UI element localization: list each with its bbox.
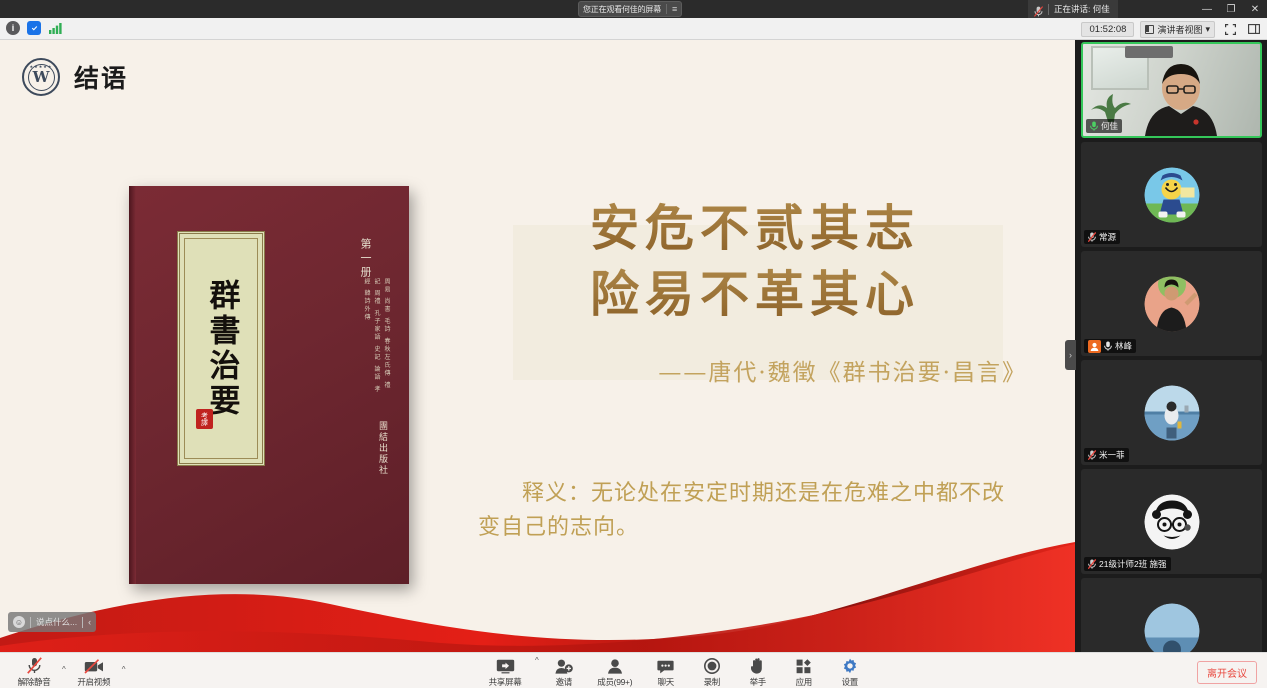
book-subtitle-list: 周易 尚書 毛詩 春秋左氏傳 禮記 周禮 孔子家語 史記 論語 孝經 韓詩外傳 (361, 278, 391, 396)
microphone-on-icon (1104, 341, 1112, 351)
presentation-slide: ★★★★★ W 结语 群書治要 考譯 第一册 周易 尚書 毛詩 春秋左氏傳 禮記… (0, 40, 1075, 652)
participant-name-bar: 21级计师2班 施强 (1084, 557, 1171, 571)
emblem-stars: ★★★★★ (24, 64, 58, 69)
microphone-muted-icon (27, 658, 42, 674)
fullscreen-icon[interactable] (1221, 21, 1239, 37)
participant-name: 21级计师2班 施强 (1099, 558, 1167, 570)
window-controls: — ❐ ✕ (1195, 0, 1267, 18)
control-bar-left: 解除静音 ^ 开启视频 ^ (8, 656, 126, 688)
slide-header: ★★★★★ W 结语 (22, 58, 128, 96)
view-mode-selector[interactable]: 演讲者视图 ▾ (1140, 21, 1215, 38)
participants-button-label: 成员(99+) (597, 676, 632, 688)
start-video-button-label: 开启视频 (77, 676, 110, 688)
control-bar-center: 共享屏幕 ^ 邀请 成员(99+) 聊天 录制 (479, 656, 871, 688)
book-cover-image: 群書治要 考譯 第一册 周易 尚書 毛詩 春秋左氏傳 禮記 周禮 孔子家語 史記… (129, 186, 409, 584)
share-options-chevron-icon[interactable]: ^ (535, 656, 539, 679)
viewing-screen-banner[interactable]: 您正在观看何佳的屏幕 ≡ (578, 1, 682, 17)
panel-collapse-handle[interactable]: › (1065, 340, 1076, 370)
quote-explanation: 释义：无论处在安定时期还是在危难之中都不改变自己的志向。 (478, 477, 1023, 545)
settings-button-label: 设置 (842, 676, 858, 688)
speaker-view-icon (1145, 25, 1154, 34)
viewing-screen-banner-label: 您正在观看何佳的屏幕 (583, 4, 661, 15)
participant-tile[interactable]: 21级计师2班 施强 (1081, 469, 1262, 574)
participant-name-bar: 林峰 (1084, 339, 1136, 353)
window-top-strip: 您正在观看何佳的屏幕 ≡ 正在讲话: 何佳 — ❐ ✕ (0, 0, 1267, 18)
meeting-header-bar: i 01:52:08 演讲者视图 ▾ (0, 18, 1267, 40)
invite-button-label: 邀请 (556, 676, 572, 688)
active-speaker-label: 正在讲话: 何佳 (1054, 3, 1110, 15)
meeting-timer: 01:52:08 (1081, 22, 1134, 37)
view-mode-label: 演讲者视图 (1157, 23, 1202, 36)
book-publisher-label: 團結出版社 (376, 421, 389, 476)
book-volume-label: 第一册 (357, 238, 373, 280)
camera-off-icon (84, 658, 104, 674)
leave-meeting-button[interactable]: 离开会议 (1197, 661, 1257, 684)
smiley-icon[interactable]: ☺ (13, 616, 25, 628)
avatar (1144, 276, 1199, 331)
participant-video-strip[interactable]: 何佳 常源 (1076, 40, 1267, 652)
red-ribbon-decoration (0, 542, 1075, 652)
chat-bubble-icon (657, 658, 674, 674)
webcam-banner-object (1125, 46, 1173, 58)
meeting-header-right: 01:52:08 演讲者视图 ▾ (1081, 20, 1263, 38)
microphone-muted-icon (1088, 559, 1096, 569)
raise-hand-button[interactable]: 举手 (737, 656, 779, 688)
chat-collapse-icon[interactable]: ‹ (88, 617, 91, 627)
chat-button-label: 聊天 (658, 676, 674, 688)
participant-name-bar: 米一菲 (1084, 448, 1129, 462)
chat-divider-2 (82, 617, 83, 628)
chat-divider (30, 617, 31, 628)
shield-icon[interactable] (27, 21, 41, 35)
info-icon[interactable]: i (6, 21, 20, 35)
quote-block: 安危不贰其志 险易不革其心 ——唐代·魏徵《群书治要·昌言》 (455, 195, 1055, 387)
book-spine (129, 186, 136, 584)
chat-button[interactable]: 聊天 (645, 656, 687, 688)
webcam-person (1135, 62, 1227, 136)
unmute-button[interactable]: 解除静音 (8, 656, 60, 688)
invite-person-icon (555, 658, 573, 674)
raise-hand-button-label: 举手 (750, 676, 766, 688)
apps-grid-icon (796, 658, 812, 674)
share-screen-icon (496, 658, 515, 674)
book-title-panel: 群書治要 考譯 (177, 231, 265, 466)
slide-chat-bar[interactable]: ☺ 说点什么... ‹ (8, 612, 96, 632)
raise-hand-icon (750, 658, 765, 674)
participant-name-bar: 常源 (1084, 230, 1120, 244)
chevron-down-icon: ▾ (1205, 24, 1210, 35)
chat-input-placeholder[interactable]: 说点什么... (36, 616, 77, 628)
invite-button[interactable]: 邀请 (543, 656, 585, 688)
participant-name: 林峰 (1115, 340, 1132, 352)
participant-name-bar: 何佳 (1086, 119, 1122, 133)
banner-divider (666, 4, 667, 14)
microphone-muted-icon (1088, 232, 1096, 242)
maximize-button[interactable]: ❐ (1219, 0, 1243, 18)
settings-button[interactable]: 设置 (829, 656, 871, 688)
microphone-muted-icon (1088, 450, 1096, 460)
signal-bars-icon[interactable] (48, 21, 62, 35)
speaker-pill-divider (1048, 4, 1049, 15)
gear-icon (842, 658, 858, 674)
participant-tile[interactable]: 林峰 (1081, 251, 1262, 356)
share-screen-button-label: 共享屏幕 (489, 676, 522, 688)
shared-screen-stage[interactable]: ★★★★★ W 结语 群書治要 考譯 第一册 周易 尚書 毛詩 春秋左氏傳 禮記… (0, 40, 1075, 652)
video-options-chevron-icon[interactable]: ^ (122, 665, 126, 688)
book-main-title: 群書治要 (206, 279, 237, 419)
participant-tile[interactable] (1081, 578, 1262, 652)
page-title: 结语 (74, 59, 128, 95)
university-emblem-icon: ★★★★★ W (22, 58, 60, 96)
participants-button[interactable]: 成员(99+) (589, 656, 641, 688)
record-icon (704, 658, 720, 674)
quote-line-1: 安危不贰其志 (455, 195, 1055, 261)
avatar (1144, 494, 1199, 549)
avatar (1144, 385, 1199, 440)
audio-options-chevron-icon[interactable]: ^ (62, 665, 66, 688)
hamburger-icon[interactable]: ≡ (672, 5, 677, 14)
active-speaker-pill: 正在讲话: 何佳 (1028, 0, 1118, 18)
microphone-on-icon (1090, 121, 1098, 131)
avatar (1144, 167, 1199, 222)
participant-tile[interactable]: 常源 (1081, 142, 1262, 247)
tray-icon-group: i (6, 21, 62, 35)
meeting-control-bar: 解除静音 ^ 开启视频 ^ 共享屏幕 ^ 邀请 (0, 652, 1267, 688)
participant-name: 何佳 (1101, 120, 1118, 132)
participant-name: 常源 (1099, 231, 1116, 243)
apps-button-label: 应用 (796, 676, 812, 688)
participant-tile[interactable]: 何佳 (1081, 42, 1262, 138)
participant-tile[interactable]: 米一菲 (1081, 360, 1262, 465)
participant-name: 米一菲 (1099, 449, 1125, 461)
apps-button[interactable]: 应用 (783, 656, 825, 688)
unmute-button-label: 解除静音 (18, 676, 51, 688)
participants-icon (607, 658, 623, 674)
quote-attribution: ——唐代·魏徵《群书治要·昌言》 (455, 353, 1055, 387)
start-video-button[interactable]: 开启视频 (68, 656, 120, 688)
quote-line-2: 险易不革其心 (455, 261, 1055, 327)
split-layout-icon[interactable] (1245, 21, 1263, 37)
record-button-label: 录制 (704, 676, 720, 688)
host-badge-icon (1088, 340, 1101, 353)
microphone-muted-icon (1034, 4, 1043, 15)
record-button[interactable]: 录制 (691, 656, 733, 688)
close-button[interactable]: ✕ (1243, 0, 1267, 18)
share-screen-button[interactable]: 共享屏幕 (479, 656, 531, 688)
book-seal-stamp: 考譯 (196, 409, 213, 429)
avatar (1144, 603, 1199, 652)
minimize-button[interactable]: — (1195, 0, 1219, 18)
